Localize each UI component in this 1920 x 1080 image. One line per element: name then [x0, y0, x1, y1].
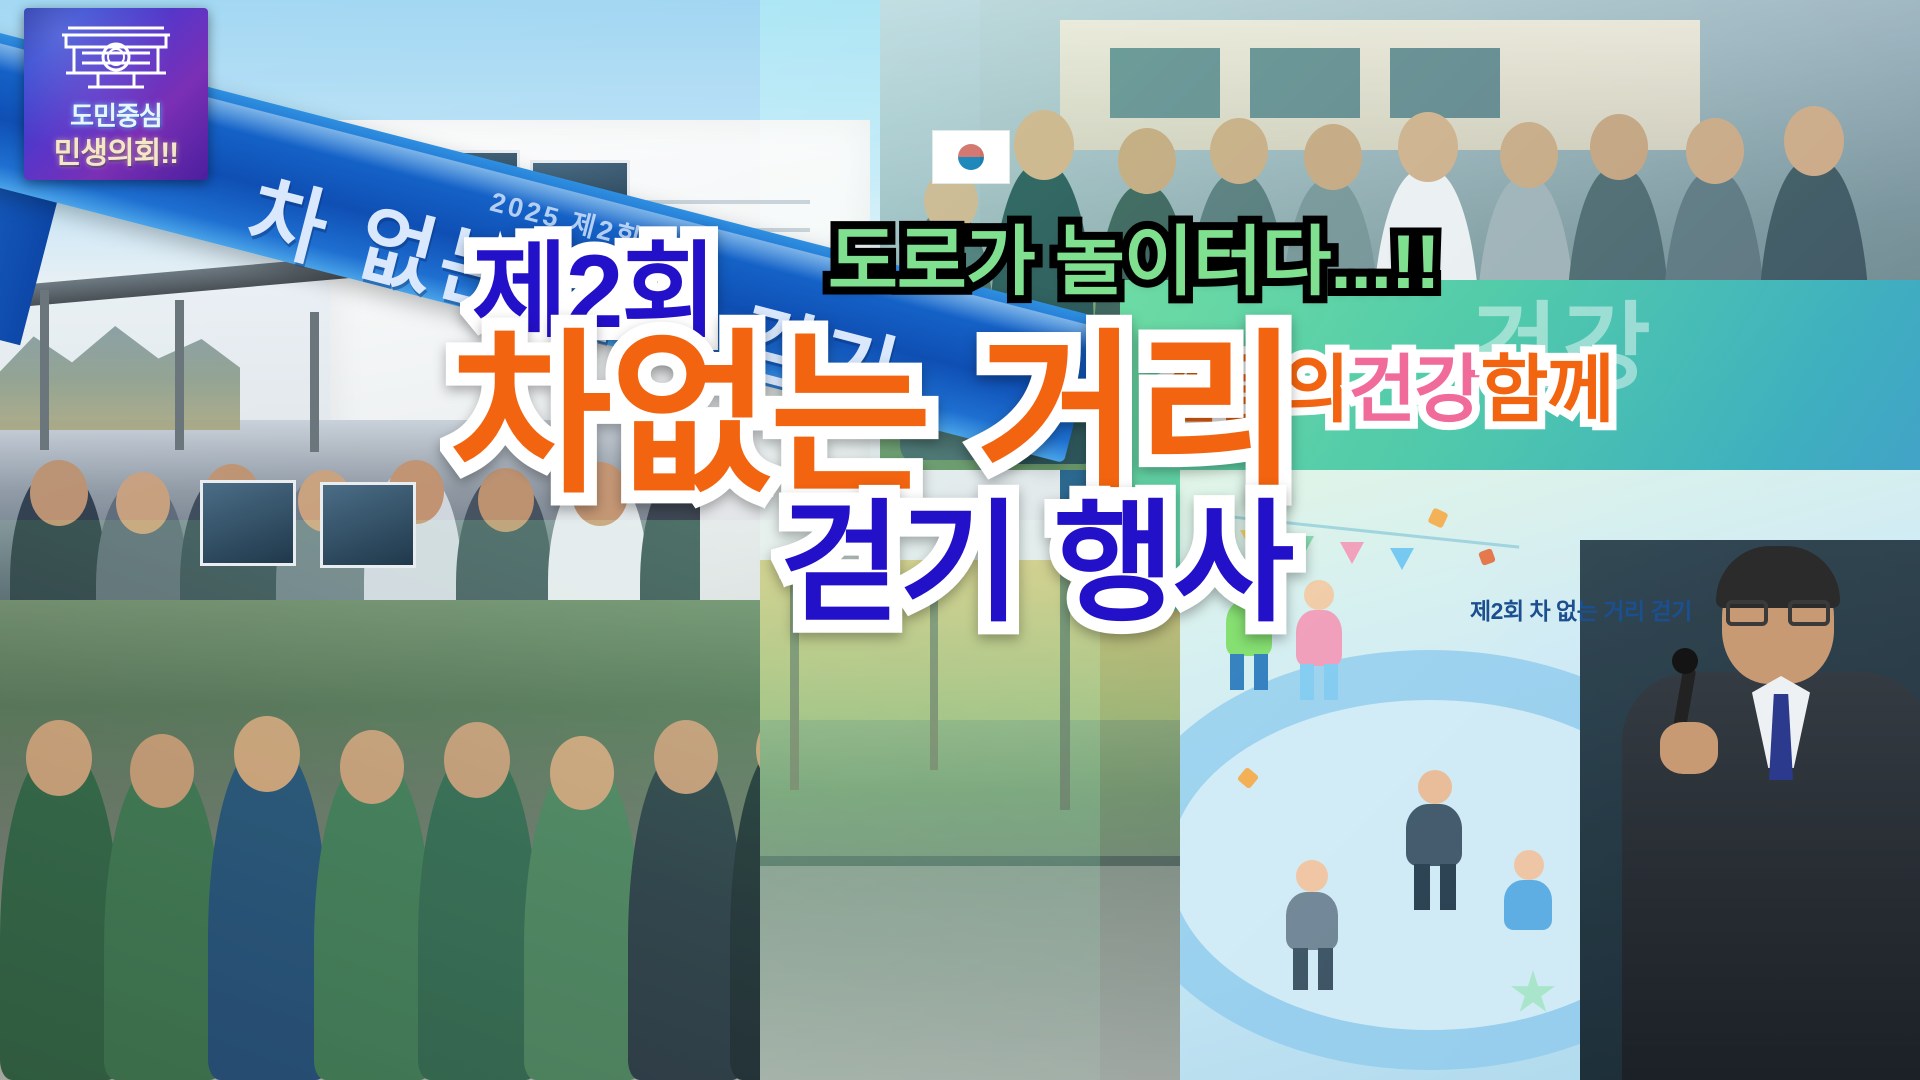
photo-autumn-street [760, 560, 1220, 1080]
walker-figure [1400, 770, 1470, 910]
walker-figure [1280, 860, 1346, 990]
mountain-backdrop [0, 300, 240, 430]
poster-caption: 제2회 차 없는 거리 걷기 [1470, 592, 1692, 626]
title-line-2: 차없는 거리 [450, 328, 1297, 504]
runner-figure [1290, 580, 1350, 700]
provincial-council-badge[interactable]: 도민중심 민생의회!! [24, 8, 208, 180]
canopy-post [310, 312, 319, 452]
microphone-icon [1672, 648, 1698, 674]
banner-segment-3: 함께 [1480, 330, 1612, 437]
glasses-icon [1726, 600, 1830, 626]
canopy-post [175, 300, 184, 450]
government-building-icon [52, 17, 180, 93]
sitting-figure [1500, 850, 1560, 960]
badge-line-2: 민생의회!! [24, 128, 208, 172]
title-line-3: 걷기 행사 [780, 498, 1297, 630]
thumbnail-canvas: 건강 걸음의 건강 함께 제2회 차 없는 거리 걷기 2025 제2회 차 없… [0, 0, 1920, 1080]
speaker-hand [1660, 722, 1718, 774]
canopy-post [40, 290, 49, 450]
building-window [320, 482, 416, 568]
building-window [200, 480, 296, 566]
main-title: 제2회 차없는 거리 걷기 행사 [450, 240, 1297, 630]
banner-segment-2: 건강 [1348, 330, 1480, 437]
